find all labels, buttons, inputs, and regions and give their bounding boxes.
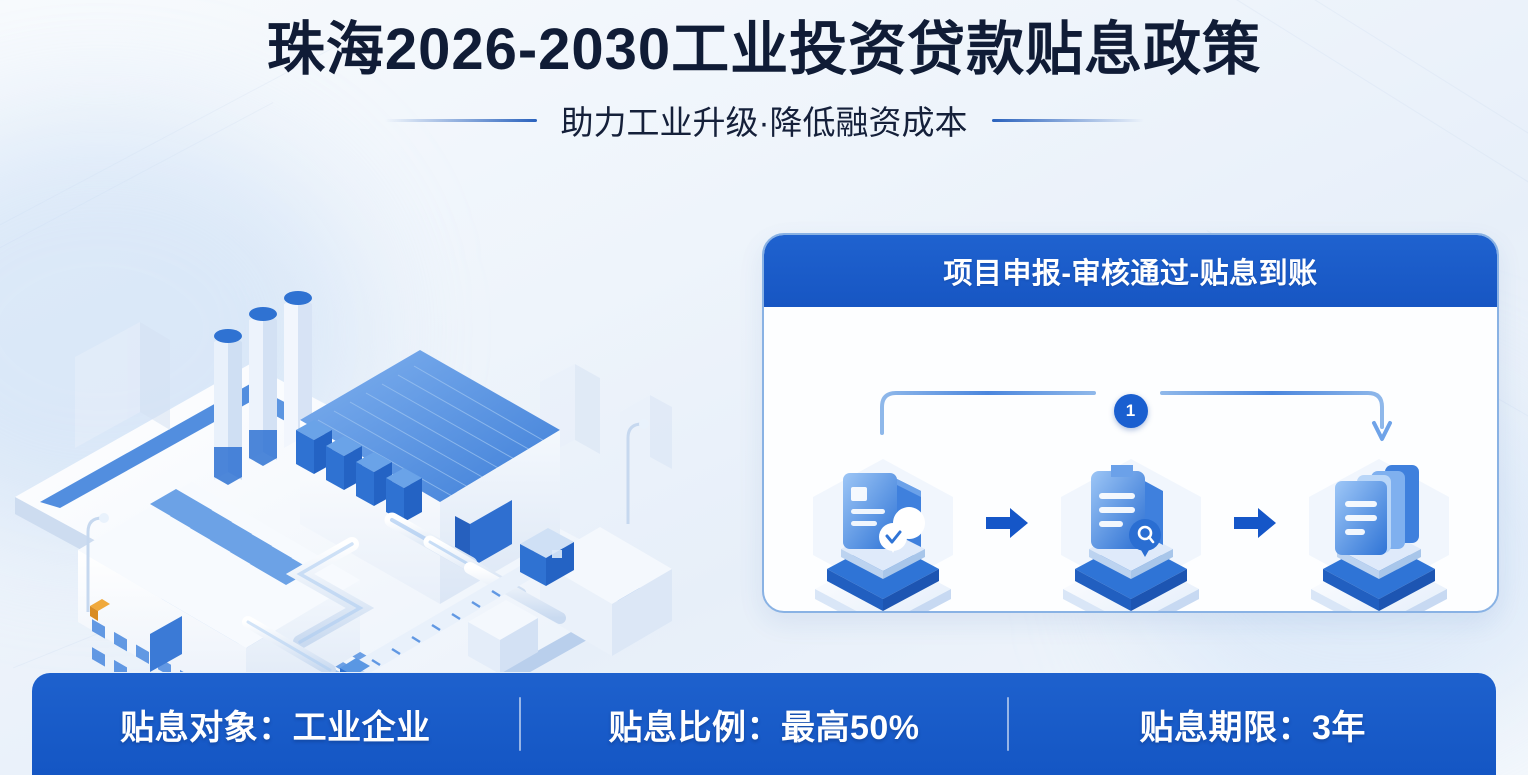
- subtitle-rule-left: [385, 119, 537, 122]
- process-step-3: [1289, 435, 1469, 611]
- process-arrow-2: [1229, 501, 1281, 545]
- process-step-2: [1041, 435, 1221, 611]
- document-review-icon: [1041, 435, 1221, 611]
- footer-item-term: 贴息期限：3年: [1009, 700, 1496, 749]
- isometric-factory-illustration: [0, 152, 760, 672]
- arrow-right-icon: [1232, 506, 1278, 540]
- process-card-body: 1: [764, 307, 1497, 611]
- subtitle-rule-right: [992, 119, 1144, 122]
- process-card-header: 项目申报-审核通过-贴息到账: [764, 235, 1497, 307]
- process-card: 项目申报-审核通过-贴息到账 1: [762, 233, 1499, 613]
- process-loop-badge: 1: [1114, 394, 1148, 428]
- document-check-icon: [793, 435, 973, 611]
- process-steps: [764, 435, 1497, 611]
- process-arrow-1: [981, 501, 1033, 545]
- subtitle-row: 助力工业升级·降低融资成本: [0, 96, 1528, 144]
- document-stack-icon: [1289, 435, 1469, 611]
- footer-item-ratio: 贴息比例：最高50%: [521, 700, 1008, 749]
- infographic-canvas: 珠海2026-2030工业投资贷款贴息政策 助力工业升级·降低融资成本: [0, 0, 1528, 775]
- process-card-title: 项目申报-审核通过-贴息到账: [943, 250, 1317, 292]
- process-step-1: [793, 435, 973, 611]
- footer-item-target: 贴息对象：工业企业: [32, 700, 519, 749]
- arrow-right-icon: [984, 506, 1030, 540]
- footer-highlights-bar: 贴息对象：工业企业 贴息比例：最高50% 贴息期限：3年: [32, 673, 1496, 775]
- page-title: 珠海2026-2030工业投资贷款贴息政策: [0, 16, 1528, 84]
- page-subtitle: 助力工业升级·降低融资成本: [561, 96, 968, 144]
- header: 珠海2026-2030工业投资贷款贴息政策 助力工业升级·降低融资成本: [0, 16, 1528, 144]
